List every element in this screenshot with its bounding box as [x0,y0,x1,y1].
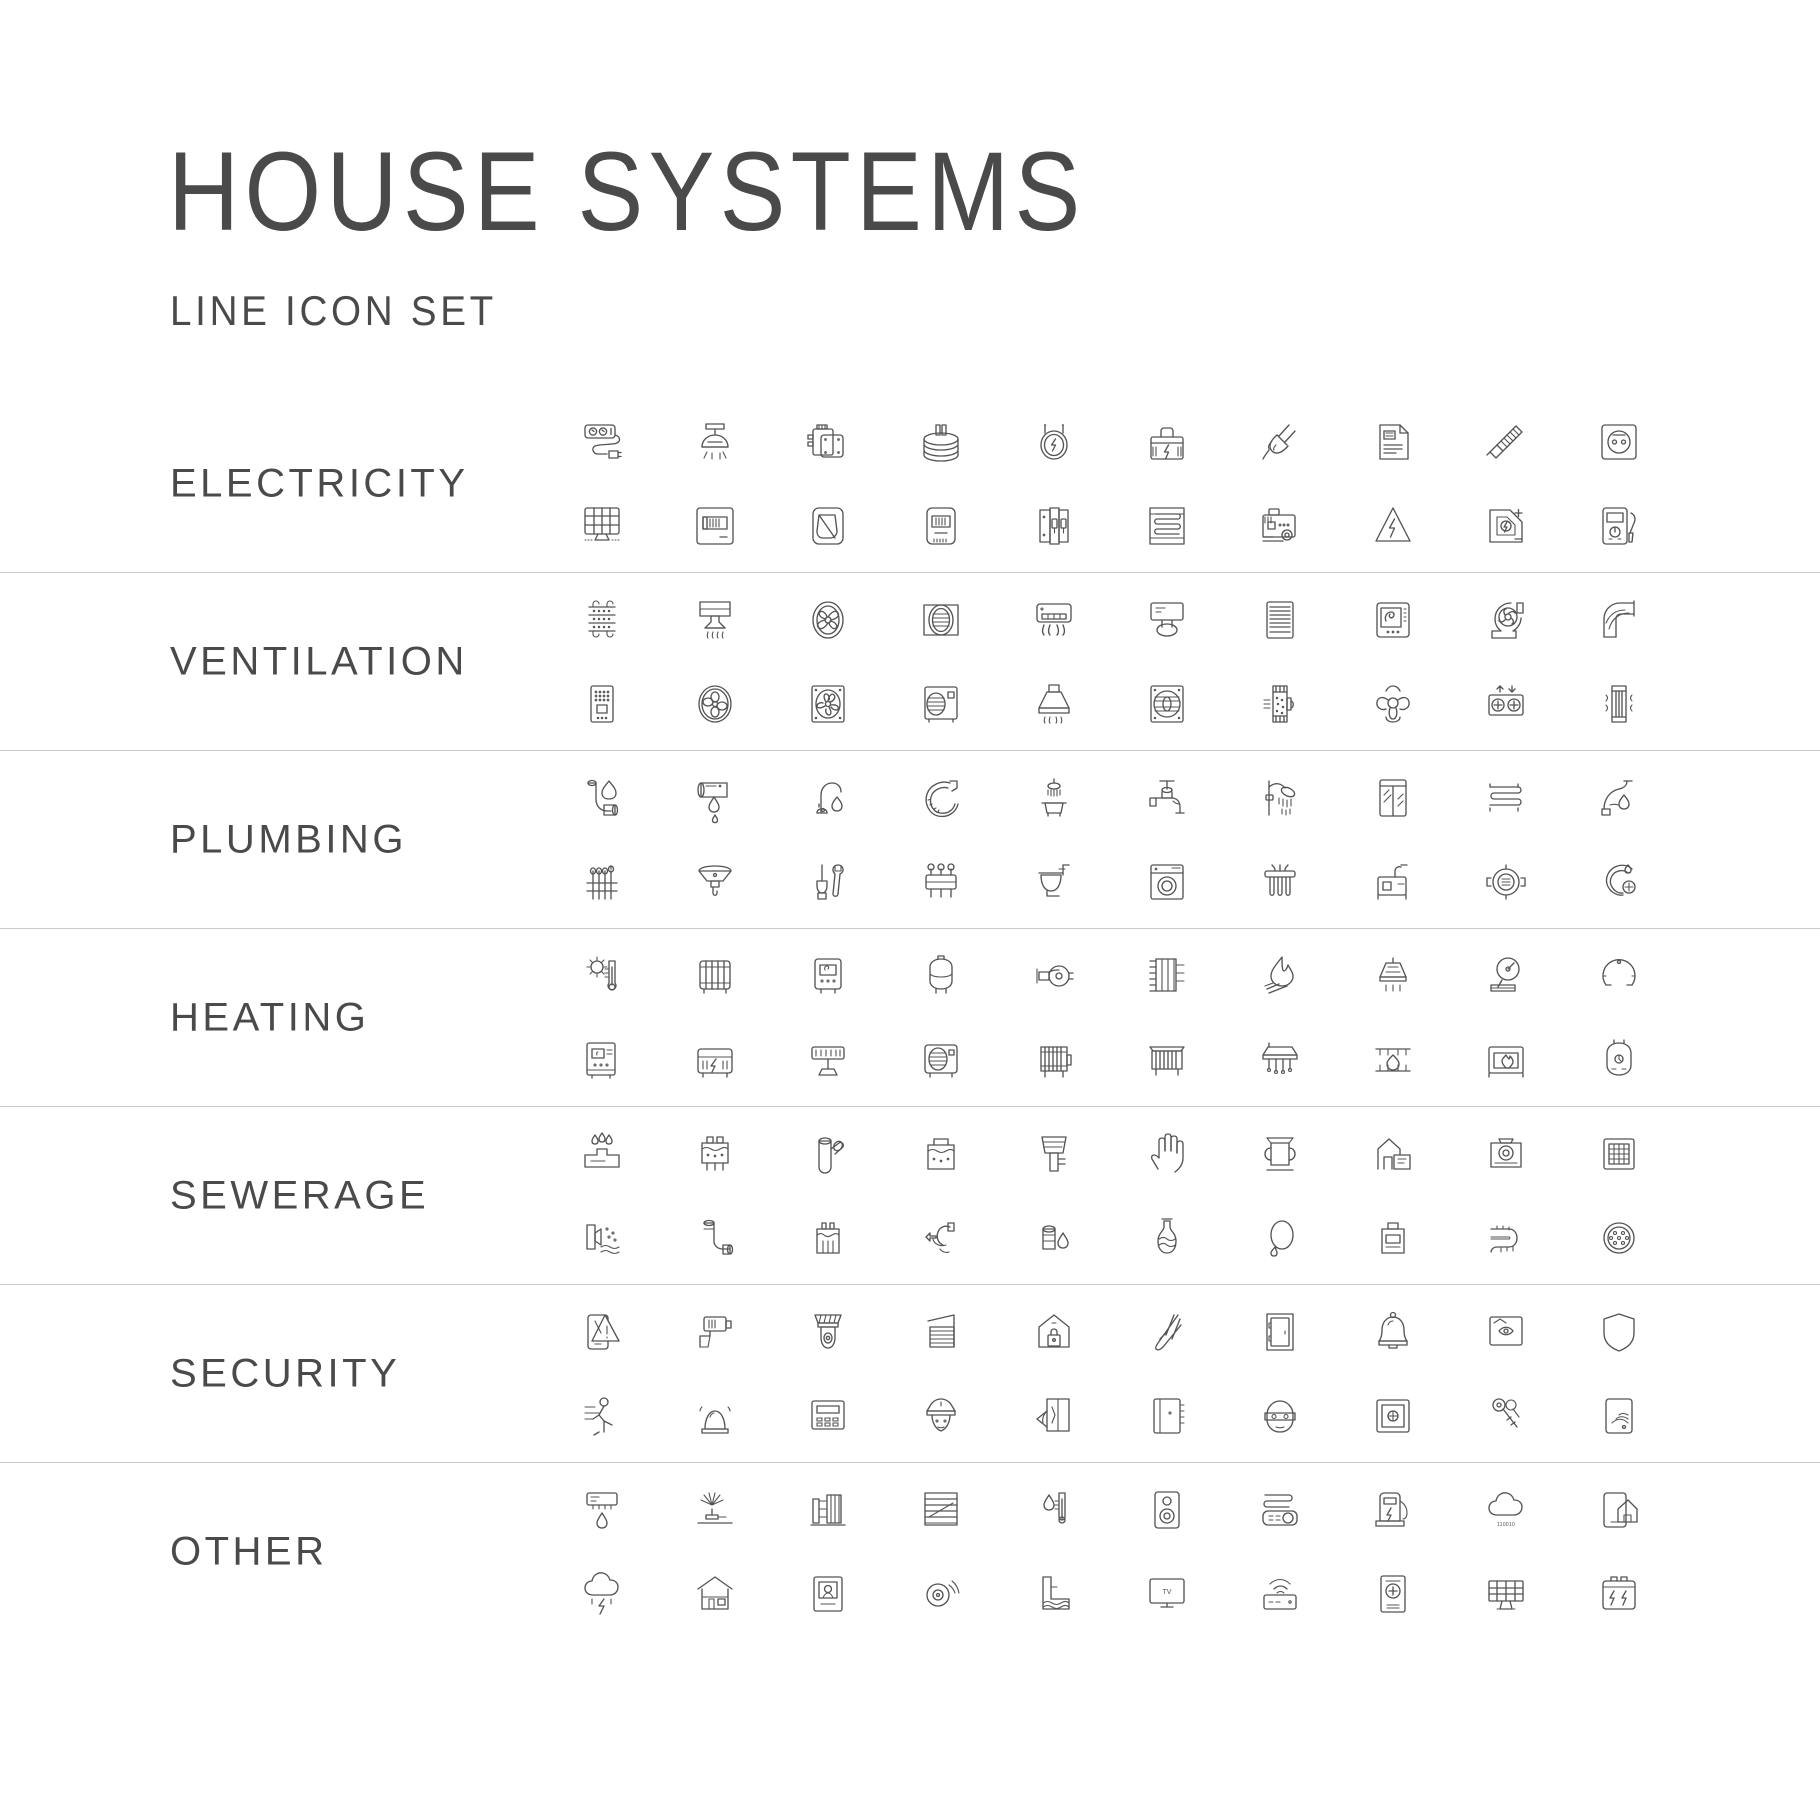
solar-panel-icon[interactable] [545,486,658,566]
cable-coil-icon[interactable] [884,402,997,482]
thermostat-dial-icon[interactable] [1562,936,1675,1016]
radiator-icon[interactable] [658,936,771,1016]
icon-grid-electricity [545,402,1675,566]
icon-grid-other: 110010 TV [545,1470,1675,1634]
category-label-plumbing: PLUMBING [170,817,407,862]
boiler-icon[interactable] [771,936,884,1016]
section-plumbing: PLUMBING [0,750,1820,928]
security-guard-icon[interactable] [884,1376,997,1456]
drain-strainer-icon[interactable] [1562,1198,1675,1278]
cloud-data-icon[interactable]: 110010 [1449,1470,1562,1550]
heating-valve-icon[interactable] [997,936,1110,1016]
smart-speaker-icon[interactable] [1110,1470,1223,1550]
kitchen-mixer-tap-icon[interactable] [1562,758,1675,838]
heated-towel-rail-icon[interactable] [1449,758,1562,838]
air-filter-cartridge-icon[interactable] [1223,664,1336,744]
smoke-detector-icon[interactable] [884,1554,997,1634]
cctv-camera-icon[interactable] [658,1292,771,1372]
air-duct-icon[interactable] [545,580,658,660]
dome-camera-icon[interactable] [771,1292,884,1372]
centrifugal-blower-icon[interactable] [1449,580,1562,660]
round-fan-icon[interactable] [658,664,771,744]
ceiling-air-diffuser-icon[interactable] [658,580,771,660]
smart-lock-phone-icon[interactable] [1562,1376,1675,1456]
house-lock-icon[interactable] [997,1292,1110,1372]
category-label-ventilation: VENTILATION [170,639,468,684]
icon-grid-security [545,1292,1675,1456]
motorized-gate-icon[interactable] [771,1470,884,1550]
drain-elbow-pipe-icon[interactable] [658,1198,771,1278]
vent-grille-icon[interactable] [1223,580,1336,660]
expansion-tank-icon[interactable] [884,936,997,1016]
icon-grid-heating [545,936,1675,1100]
high-voltage-warning-icon[interactable] [1336,486,1449,566]
round-air-vent-icon[interactable] [1110,664,1223,744]
electric-circuit-icon[interactable] [1449,486,1562,566]
wifi-router-icon[interactable] [1223,1554,1336,1634]
smart-switch-panel-icon[interactable] [771,486,884,566]
square-fan-icon[interactable] [771,664,884,744]
water-filter-icon[interactable] [1223,842,1336,922]
electrical-wiring-card-icon[interactable] [1336,402,1449,482]
wastewater-tank-icon[interactable] [884,1114,997,1194]
smart-house-icon[interactable] [658,1554,771,1634]
shower-set-icon[interactable] [1223,758,1336,838]
water-well-pump-icon[interactable] [997,1554,1110,1634]
drain-cleaning-icon[interactable] [884,1198,997,1278]
sink-drain-icon[interactable] [658,842,771,922]
pressure-gauge-icon[interactable] [1449,936,1562,1016]
junction-box-icon[interactable] [771,402,884,482]
sewer-vent-icon[interactable] [997,1114,1110,1194]
pump-station-icon[interactable] [1336,842,1449,922]
air-quality-monitor-icon[interactable] [1336,580,1449,660]
power-cable-reel-icon[interactable] [997,402,1110,482]
alarm-keypad-icon[interactable] [771,1376,884,1456]
water-leak-sensor-icon[interactable] [545,1470,658,1550]
fireplace-icon[interactable] [1449,1020,1562,1100]
category-label-electricity: ELECTRICITY [170,461,469,506]
cast-iron-radiator-icon[interactable] [1110,1020,1223,1100]
page-title: HOUSE SYSTEMS [168,136,1086,248]
solar-battery-panel-icon[interactable] [1449,1554,1562,1634]
power-generator-icon[interactable] [1223,486,1336,566]
keycard-hand-icon[interactable] [1110,1292,1223,1372]
leaking-pipe-icon[interactable] [658,758,771,838]
sewage-pump-icon[interactable] [1110,1198,1223,1278]
circuit-breaker-icon[interactable] [997,486,1110,566]
water-heater-icon[interactable] [1562,1020,1675,1100]
ceiling-light-icon[interactable] [658,402,771,482]
underfloor-heating-plan-icon[interactable] [1110,936,1223,1016]
outdoor-ac-unit-icon[interactable] [884,664,997,744]
sewer-valve-icon[interactable] [1223,1114,1336,1194]
rubber-glove-icon[interactable] [1110,1114,1223,1194]
wastewater-discharge-icon[interactable] [545,1198,658,1278]
humidity-sensor-icon[interactable] [997,1470,1110,1550]
video-doorbell-icon[interactable] [1449,1292,1562,1372]
smart-home-phone-icon[interactable] [1562,1470,1675,1550]
axial-fan-icon[interactable] [884,580,997,660]
smart-tv-icon[interactable]: TV [1110,1554,1223,1634]
electric-heater-icon[interactable] [658,1020,771,1100]
pipe-risers-icon[interactable] [545,842,658,922]
category-label-heating: HEATING [170,995,369,1040]
category-label-other: OTHER [170,1529,328,1574]
sewer-pipe-tee-icon[interactable] [771,1114,884,1194]
burglar-icon[interactable] [1223,1376,1336,1456]
shower-cabin-icon[interactable] [1336,758,1449,838]
plug-icon[interactable] [1223,402,1336,482]
washing-machine-icon[interactable] [1110,842,1223,922]
category-label-security: SECURITY [170,1351,400,1396]
icon-set-poster: HOUSE SYSTEMS LINE ICON SET ELECTRICITY [0,0,1820,1820]
battery-storage-icon[interactable] [1562,1554,1675,1634]
control-module-icon[interactable] [1110,1376,1223,1456]
drain-grate-icon[interactable] [1562,1114,1675,1194]
storm-sensor-icon[interactable] [545,1554,658,1634]
drain-balloon-plug-icon[interactable] [1223,1198,1336,1278]
heat-recovery-ventilator-icon[interactable] [1562,664,1675,744]
ev-charger-icon[interactable] [1336,1470,1449,1550]
carbon-filter-icon[interactable] [1336,664,1449,744]
control-tablet-icon[interactable] [1336,1554,1449,1634]
cloud-data-label: 110010 [1496,1522,1514,1528]
heat-exchanger-icon[interactable] [1336,1020,1449,1100]
icon-grid-sewerage [545,1114,1675,1278]
sewer-inspection-chamber-icon[interactable] [1336,1198,1449,1278]
electrician-toolbox-icon[interactable] [1110,402,1223,482]
section-ventilation: VENTILATION [0,572,1820,750]
category-label-sewerage: SEWERAGE [170,1173,429,1218]
intercom-icon[interactable] [771,1554,884,1634]
robot-vacuum-icon[interactable] [1223,1470,1336,1550]
duct-outlet-icon[interactable] [1110,580,1223,660]
wall-gas-boiler-icon[interactable] [545,1020,658,1100]
fan-impeller-icon[interactable] [771,580,884,660]
section-sewerage: SEWERAGE [0,1106,1820,1284]
window-blinds-icon[interactable] [884,1470,997,1550]
wall-socket-icon[interactable] [1562,402,1675,482]
oil-radiator-icon[interactable] [997,1020,1110,1100]
sewage-treatment-icon[interactable] [771,1198,884,1278]
security-door-icon[interactable] [1223,1292,1336,1372]
icon-grid-ventilation [545,580,1675,744]
flame-log-icon[interactable] [1223,936,1336,1016]
heating-cable-icon[interactable] [1110,486,1223,566]
garage-door-icon[interactable] [884,1292,997,1372]
shield-icon[interactable] [1562,1292,1675,1372]
pipe-water-drop-icon[interactable] [545,758,658,838]
twisted-wire-icon[interactable] [1449,402,1562,482]
section-security: SECURITY [0,1284,1820,1462]
plunger-wrench-icon[interactable] [771,842,884,922]
infrared-heater-icon[interactable] [771,1020,884,1100]
septic-tank-icon[interactable] [658,1114,771,1194]
power-strip-cable-icon[interactable] [545,402,658,482]
radiant-ceiling-heater-icon[interactable] [1223,1020,1336,1100]
air-conditioner-icon[interactable] [997,580,1110,660]
keys-icon[interactable] [1449,1376,1562,1456]
fan-heater-icon[interactable] [884,1020,997,1100]
water-pump-icon[interactable] [1449,842,1562,922]
window-break-sensor-icon[interactable] [997,1376,1110,1456]
tv-label: TV [1162,1589,1171,1596]
heat-lamp-icon[interactable] [1336,936,1449,1016]
thermostat-sun-icon[interactable] [545,936,658,1016]
safe-box-icon[interactable] [1336,1376,1449,1456]
duct-elbow-icon[interactable] [1562,580,1675,660]
ventilation-control-panel-icon[interactable] [545,664,658,744]
water-manifold-icon[interactable] [884,842,997,922]
section-other: OTHER 110010 TV [0,1462,1820,1640]
multimeter-icon[interactable] [1562,486,1675,566]
bathtub-shower-icon[interactable] [997,758,1110,838]
drain-pipe-drop-icon[interactable] [997,1198,1110,1278]
siren-light-icon[interactable] [658,1376,771,1456]
water-hose-icon[interactable] [884,758,997,838]
alarm-bell-icon[interactable] [1336,1292,1449,1372]
flexible-drain-hose-icon[interactable] [1449,1198,1562,1278]
icon-catalog: ELECTRICITY [0,395,1820,1640]
house-drainage-icon[interactable] [1336,1114,1449,1194]
garden-sprinkler-icon[interactable] [658,1470,771,1550]
manhole-cover-icon[interactable] [1449,1114,1562,1194]
drain-water-drops-icon[interactable] [545,1114,658,1194]
icon-grid-plumbing [545,758,1675,922]
page-subtitle: LINE ICON SET [170,290,497,332]
water-supply-pipes-icon[interactable] [1562,842,1675,922]
motion-sensor-icon[interactable] [545,1376,658,1456]
toilet-icon[interactable] [997,842,1110,922]
tap-valve-icon[interactable] [1110,758,1223,838]
air-exchange-unit-icon[interactable] [1449,664,1562,744]
electricity-meter-icon[interactable] [884,486,997,566]
faucet-drip-icon[interactable] [771,758,884,838]
section-heating: HEATING [0,928,1820,1106]
phone-alarm-alert-icon[interactable] [545,1292,658,1372]
section-electricity: ELECTRICITY [0,395,1820,572]
distribution-board-icon[interactable] [658,486,771,566]
kitchen-hood-icon[interactable] [997,664,1110,744]
